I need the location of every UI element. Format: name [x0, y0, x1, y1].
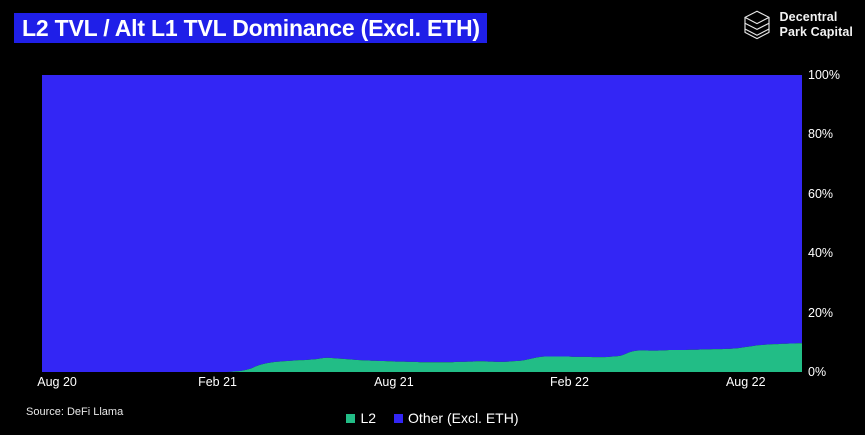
- chart-plot-area: [42, 75, 802, 372]
- chart-legend: L2Other (Excl. ETH): [0, 410, 865, 426]
- x-axis-tick-label: Aug 21: [374, 375, 414, 390]
- brand-logo: Decentral Park Capital: [742, 9, 853, 41]
- legend-label: Other (Excl. ETH): [408, 410, 518, 426]
- stacked-cube-logo-icon: [742, 9, 772, 41]
- chart-screenshot-root: L2 TVL / Alt L1 TVL Dominance (Excl. ETH…: [0, 0, 865, 435]
- legend-item[interactable]: Other (Excl. ETH): [394, 410, 518, 426]
- x-axis-tick-label: Aug 22: [726, 375, 766, 390]
- area-series-other: [42, 75, 802, 372]
- legend-swatch-icon: [394, 414, 403, 423]
- x-axis-tick-label: Feb 21: [198, 375, 237, 390]
- page-title-wrapper: L2 TVL / Alt L1 TVL Dominance (Excl. ETH…: [14, 13, 487, 43]
- brand-name-line2: Park Capital: [780, 25, 853, 40]
- legend-item[interactable]: L2: [346, 410, 376, 426]
- brand-name-line1: Decentral: [780, 10, 853, 25]
- y-axis-tick-label: 60%: [808, 188, 833, 201]
- x-axis: Aug 20Feb 21Aug 21Feb 22Aug 22: [0, 375, 865, 395]
- y-axis-tick-label: 40%: [808, 247, 833, 260]
- page-title: L2 TVL / Alt L1 TVL Dominance (Excl. ETH…: [14, 13, 487, 43]
- stacked-area-chart: [42, 75, 802, 372]
- x-axis-tick-label: Aug 20: [37, 375, 77, 390]
- y-axis-tick-label: 20%: [808, 307, 833, 320]
- brand-name: Decentral Park Capital: [780, 10, 853, 40]
- y-axis-tick-label: 100%: [808, 69, 840, 82]
- x-axis-tick-label: Feb 22: [550, 375, 589, 390]
- y-axis: 0%20%40%60%80%100%: [808, 75, 865, 372]
- y-axis-tick-label: 80%: [808, 128, 833, 141]
- legend-swatch-icon: [346, 414, 355, 423]
- legend-label: L2: [360, 410, 376, 426]
